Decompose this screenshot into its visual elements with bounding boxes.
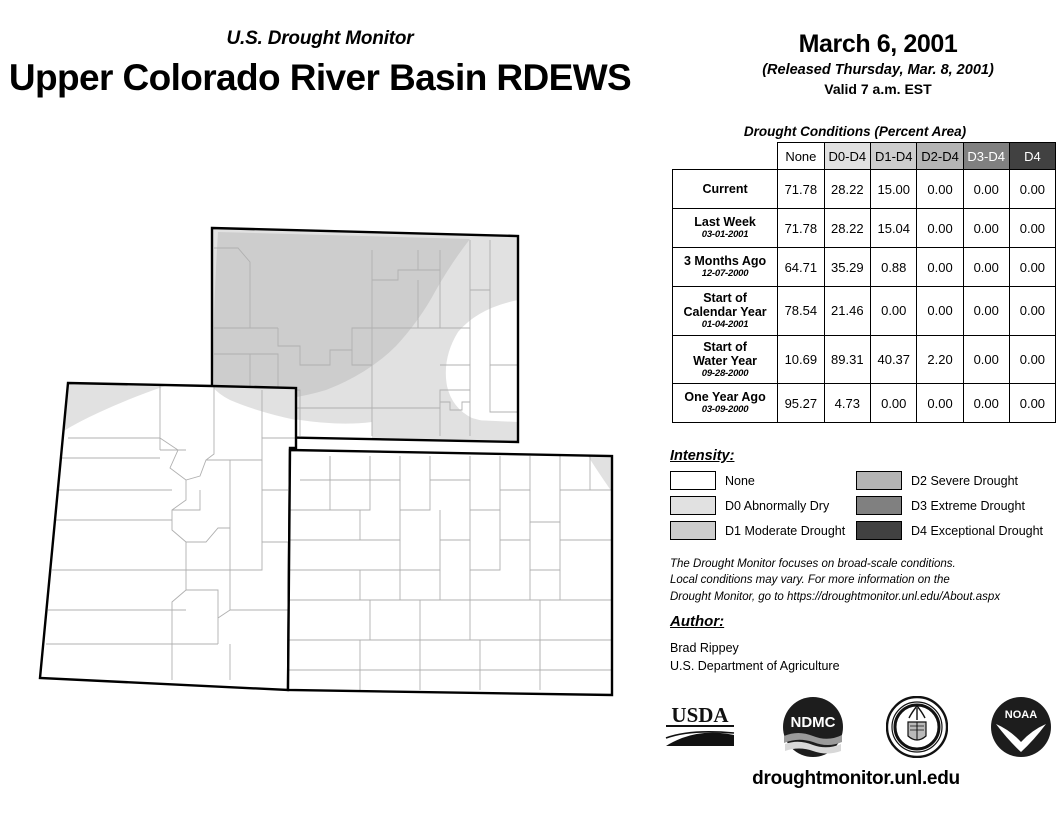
author-block: Brad Rippey U.S. Department of Agricultu… xyxy=(670,639,840,675)
cell-d3-d4: 0.00 xyxy=(963,248,1009,287)
row-label-start-of-water-year: Start ofWater Year 09-28-2000 xyxy=(673,335,778,384)
cell-d0-d4: 28.22 xyxy=(824,209,870,248)
cell-d4: 0.00 xyxy=(1009,287,1055,336)
table-row: One Year Ago 03-09-2000 95.27 4.73 0.00 … xyxy=(673,384,1056,423)
title-block: U.S. Drought Monitor Upper Colorado Rive… xyxy=(0,28,700,99)
legend-label: D2 Severe Drought xyxy=(911,474,1018,488)
svg-text:USDA: USDA xyxy=(671,703,729,727)
date-block: March 6, 2001 (Released Thursday, Mar. 8… xyxy=(700,30,1056,97)
legend-swatch-d1 xyxy=(670,521,716,540)
author-name: Brad Rippey xyxy=(670,639,840,657)
table-corner-cell xyxy=(673,143,778,170)
map-svg[interactable] xyxy=(0,150,660,730)
legend-label: D4 Exceptional Drought xyxy=(911,524,1043,538)
svg-text:NDMC: NDMC xyxy=(791,714,836,731)
intensity-legend: Intensity: None D2 Severe Drought D0 Abn… xyxy=(670,448,1042,540)
ndmc-logo: NDMC xyxy=(782,696,844,758)
row-label-text: Start ofWater Year xyxy=(693,340,757,368)
cell-d1-d4: 0.00 xyxy=(871,384,917,423)
author-affiliation: U.S. Department of Agriculture xyxy=(670,657,840,675)
row-label-date: 01-04-2001 xyxy=(676,320,774,331)
note-line-1: The Drought Monitor focuses on broad-sca… xyxy=(670,556,1050,572)
logo-row: USDA NDMC NOAA xyxy=(660,696,1052,758)
cell-d3-d4: 0.00 xyxy=(963,287,1009,336)
row-label-current: Current xyxy=(673,170,778,209)
legend-item-d0: D0 Abnormally Dry xyxy=(670,496,856,515)
cell-d2-d4: 2.20 xyxy=(917,335,963,384)
col-header-d0-d4: D0-D4 xyxy=(824,143,870,170)
table-row: Current 71.78 28.22 15.00 0.00 0.00 0.00 xyxy=(673,170,1056,209)
cell-d4: 0.00 xyxy=(1009,335,1055,384)
row-label-date: 09-28-2000 xyxy=(676,369,774,380)
table-row: Last Week 03-01-2001 71.78 28.22 15.04 0… xyxy=(673,209,1056,248)
cell-d3-d4: 0.00 xyxy=(963,209,1009,248)
cell-d0-d4: 4.73 xyxy=(824,384,870,423)
usda-logo: USDA xyxy=(660,702,740,752)
state-colorado[interactable] xyxy=(288,450,612,695)
col-header-d3-d4: D3-D4 xyxy=(963,143,1009,170)
legend-item-d4: D4 Exceptional Drought xyxy=(856,521,1042,540)
table-row: Start ofWater Year 09-28-2000 10.69 89.3… xyxy=(673,335,1056,384)
legend-item-d1: D1 Moderate Drought xyxy=(670,521,856,540)
svg-text:NOAA: NOAA xyxy=(1005,709,1037,721)
table-caption: Drought Conditions (Percent Area) xyxy=(670,124,1040,139)
col-header-d2-d4: D2-D4 xyxy=(917,143,963,170)
cell-none: 71.78 xyxy=(778,170,824,209)
cell-d3-d4: 0.00 xyxy=(963,384,1009,423)
valid-time: Valid 7 a.m. EST xyxy=(700,81,1056,97)
website-url: droughtmonitor.unl.edu xyxy=(660,768,1052,790)
cell-d3-d4: 0.00 xyxy=(963,170,1009,209)
table-row: Start ofCalendar Year 01-04-2001 78.54 2… xyxy=(673,287,1056,336)
note-line-2: Local conditions may vary. For more info… xyxy=(670,572,1050,588)
state-utah[interactable] xyxy=(40,383,296,690)
cell-d1-d4: 0.88 xyxy=(871,248,917,287)
cell-d2-d4: 0.00 xyxy=(917,287,963,336)
row-label-text: One Year Ago xyxy=(684,390,765,404)
cell-none: 71.78 xyxy=(778,209,824,248)
usdc-seal xyxy=(886,696,948,758)
legend-label: D0 Abnormally Dry xyxy=(725,499,829,513)
row-label-last-week: Last Week 03-01-2001 xyxy=(673,209,778,248)
cell-d4: 0.00 xyxy=(1009,170,1055,209)
cell-d2-d4: 0.00 xyxy=(917,384,963,423)
release-date: (Released Thursday, Mar. 8, 2001) xyxy=(700,62,1056,78)
row-label-start-of-calendar-year: Start ofCalendar Year 01-04-2001 xyxy=(673,287,778,336)
cell-d1-d4: 15.00 xyxy=(871,170,917,209)
legend-label: D1 Moderate Drought xyxy=(725,524,845,538)
row-label-date: 03-01-2001 xyxy=(676,230,774,241)
col-header-d1-d4: D1-D4 xyxy=(871,143,917,170)
cell-d0-d4: 89.31 xyxy=(824,335,870,384)
row-label-date: 12-07-2000 xyxy=(676,269,774,280)
cell-d4: 0.00 xyxy=(1009,384,1055,423)
legend-title: Intensity: xyxy=(670,448,1042,464)
map-date: March 6, 2001 xyxy=(700,30,1056,59)
cell-none: 64.71 xyxy=(778,248,824,287)
cell-d4: 0.00 xyxy=(1009,248,1055,287)
row-label-text: 3 Months Ago xyxy=(684,254,766,268)
row-label-text: Start ofCalendar Year xyxy=(683,291,766,319)
cell-d0-d4: 21.46 xyxy=(824,287,870,336)
legend-item-none: None xyxy=(670,471,856,490)
note-line-3: Drought Monitor, go to https://droughtmo… xyxy=(670,589,1050,605)
legend-swatch-d2 xyxy=(856,471,902,490)
legend-swatch-none xyxy=(670,471,716,490)
cell-d2-d4: 0.00 xyxy=(917,209,963,248)
cell-none: 95.27 xyxy=(778,384,824,423)
legend-item-d2: D2 Severe Drought xyxy=(856,471,1042,490)
table-header-row: None D0-D4 D1-D4 D2-D4 D3-D4 D4 xyxy=(673,143,1056,170)
col-header-d4: D4 xyxy=(1009,143,1055,170)
legend-label: D3 Extreme Drought xyxy=(911,499,1025,513)
row-label-text: Current xyxy=(702,182,747,196)
cell-none: 78.54 xyxy=(778,287,824,336)
disclaimer-note: The Drought Monitor focuses on broad-sca… xyxy=(670,556,1050,605)
table-row: 3 Months Ago 12-07-2000 64.71 35.29 0.88… xyxy=(673,248,1056,287)
legend-swatch-d4 xyxy=(856,521,902,540)
legend-swatch-d3 xyxy=(856,496,902,515)
supertitle: U.S. Drought Monitor xyxy=(0,28,700,50)
row-label-text: Last Week xyxy=(694,215,756,229)
cell-d1-d4: 0.00 xyxy=(871,287,917,336)
noaa-logo: NOAA xyxy=(990,696,1052,758)
legend-swatch-d0 xyxy=(670,496,716,515)
row-label-3-months-ago: 3 Months Ago 12-07-2000 xyxy=(673,248,778,287)
cell-d4: 0.00 xyxy=(1009,209,1055,248)
cell-d3-d4: 0.00 xyxy=(963,335,1009,384)
cell-d0-d4: 28.22 xyxy=(824,170,870,209)
row-label-date: 03-09-2000 xyxy=(676,405,774,416)
legend-label: None xyxy=(725,474,755,488)
col-header-none: None xyxy=(778,143,824,170)
page-title: Upper Colorado River Basin RDEWS xyxy=(0,57,700,99)
cell-d0-d4: 35.29 xyxy=(824,248,870,287)
author-heading: Author: xyxy=(670,613,724,630)
cell-none: 10.69 xyxy=(778,335,824,384)
drought-map[interactable] xyxy=(0,150,660,730)
cell-d1-d4: 15.04 xyxy=(871,209,917,248)
drought-conditions-table: None D0-D4 D1-D4 D2-D4 D3-D4 D4 Current … xyxy=(672,142,1056,423)
legend-item-d3: D3 Extreme Drought xyxy=(856,496,1042,515)
cell-d2-d4: 0.00 xyxy=(917,248,963,287)
cell-d1-d4: 40.37 xyxy=(871,335,917,384)
row-label-one-year-ago: One Year Ago 03-09-2000 xyxy=(673,384,778,423)
cell-d2-d4: 0.00 xyxy=(917,170,963,209)
